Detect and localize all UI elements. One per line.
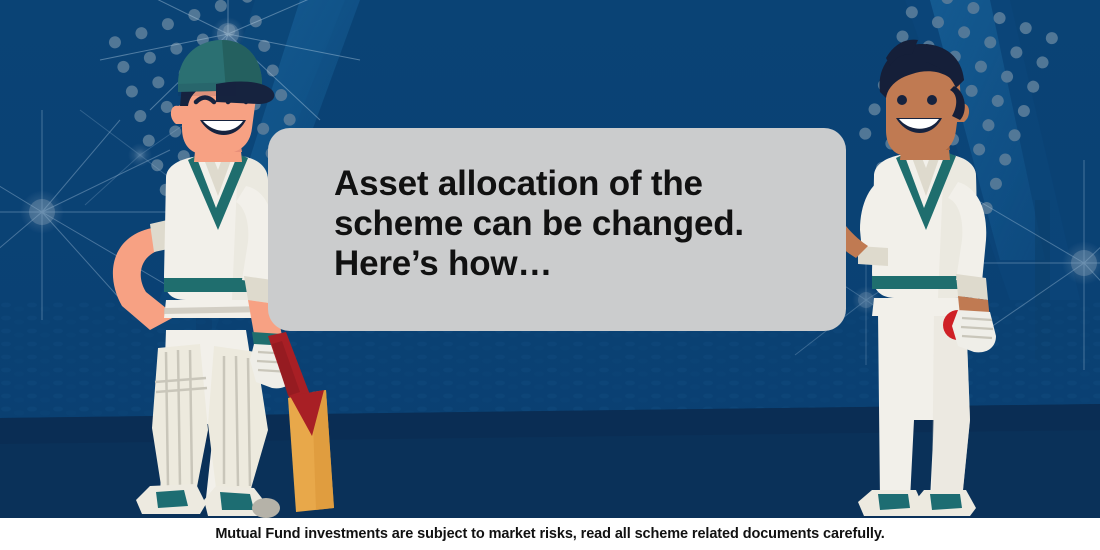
disclaimer-bar: Mutual Fund investments are subject to m… <box>0 518 1100 550</box>
disclaimer-text: Mutual Fund investments are subject to m… <box>215 526 884 542</box>
speech-bubble: Asset allocation of the scheme can be ch… <box>268 128 846 331</box>
batsman-left-cap <box>178 40 274 104</box>
speech-bubble-text: Asset allocation of the scheme can be ch… <box>334 164 846 284</box>
bowler-right-head <box>879 40 969 156</box>
cricket-bat <box>268 332 334 512</box>
promo-banner-scene: Asset allocation of the scheme can be ch… <box>0 0 1100 550</box>
bowler-right-shoes <box>858 490 976 516</box>
character-bowler-right <box>829 40 996 516</box>
